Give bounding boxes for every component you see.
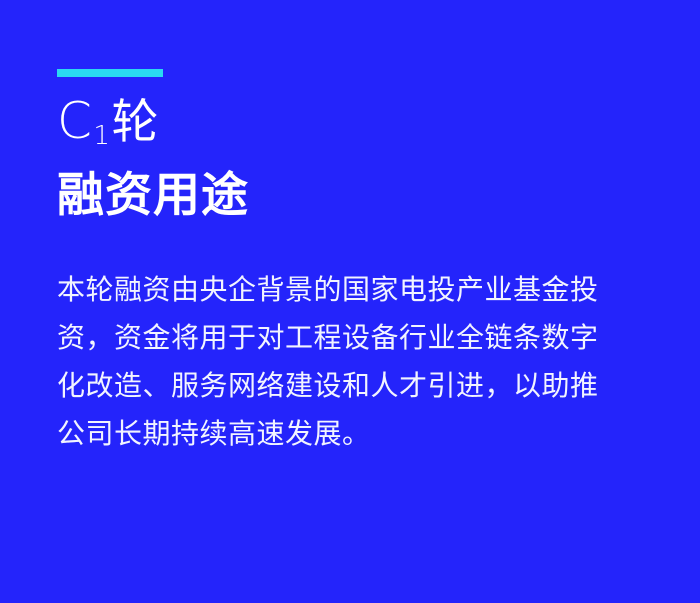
round-prefix: C — [57, 92, 92, 150]
page-title: 融资用途 — [57, 167, 657, 223]
body-line: 化改造、服务网络建设和人才引进，以助推 — [57, 362, 649, 410]
body-line: 资，资金将用于对工程设备行业全链条数字 — [57, 314, 649, 362]
funding-use-slide: C1轮 融资用途 本轮融资由央企背景的国家电投产业基金投 资，资金将用于对工程设… — [0, 0, 700, 603]
round-suffix: 轮 — [111, 95, 159, 148]
body-line: 公司长期持续高速发展。 — [57, 410, 649, 458]
accent-bar — [57, 69, 163, 77]
headline-block: C1轮 融资用途 — [57, 92, 657, 223]
round-label: C1轮 — [57, 92, 657, 159]
body-paragraph: 本轮融资由央企背景的国家电投产业基金投 资，资金将用于对工程设备行业全链条数字 … — [57, 266, 649, 458]
round-subscript: 1 — [93, 121, 110, 151]
body-line: 本轮融资由央企背景的国家电投产业基金投 — [57, 266, 649, 314]
